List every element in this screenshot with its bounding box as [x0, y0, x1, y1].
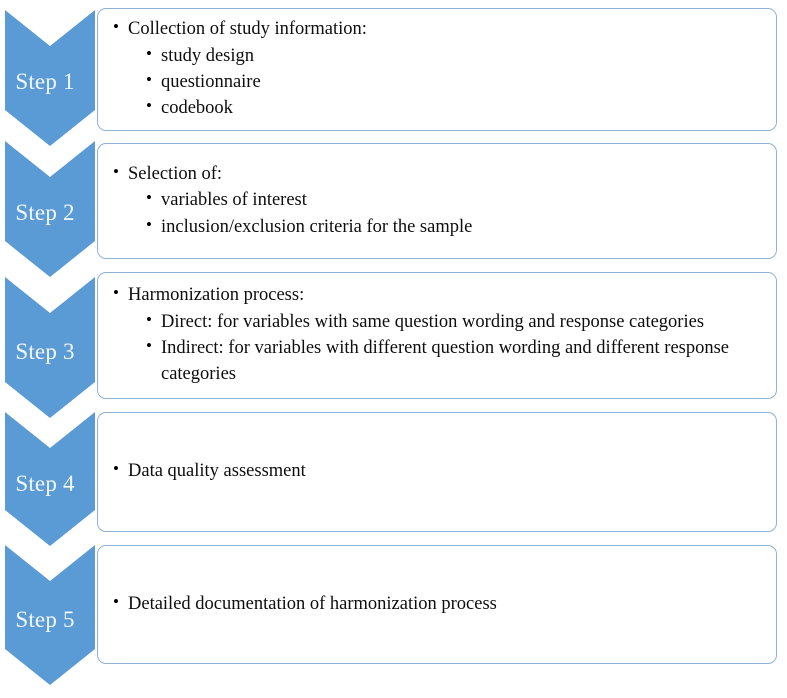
step-arrow-5 — [5, 545, 95, 685]
step-content-box-4: Data quality assessment — [97, 412, 777, 532]
bullet-list: Collection of study information:study de… — [112, 16, 766, 122]
bullet-list: Data quality assessment — [112, 458, 766, 485]
bullet-text: Data quality assessment — [128, 458, 766, 484]
sub-bullet-item: variables of interest — [146, 187, 766, 213]
bullet-list: Detailed documentation of harmonization … — [112, 591, 766, 618]
sub-bullet-item: Direct: for variables with same question… — [146, 309, 766, 335]
step-arrow-2 — [5, 141, 95, 277]
process-flow-diagram: Step 1Collection of study information:st… — [0, 0, 787, 698]
bullet-text: Detailed documentation of harmonization … — [128, 591, 766, 617]
step-arrow-1 — [5, 10, 95, 146]
sub-bullet-item: questionnaire — [146, 69, 766, 95]
bullet-list: Selection of:variables of interestinclus… — [112, 161, 766, 241]
bullet-item: Selection of:variables of interestinclus… — [112, 161, 766, 240]
sub-bullet-item: Indirect: for variables with different q… — [146, 335, 766, 388]
step-arrow-4 — [5, 412, 95, 546]
chevron-icon — [5, 545, 95, 685]
bullet-list: Harmonization process:Direct: for variab… — [112, 282, 766, 388]
chevron-icon — [5, 412, 95, 546]
sub-bullet-list: Direct: for variables with same question… — [128, 309, 766, 388]
step-content-box-1: Collection of study information:study de… — [97, 8, 777, 131]
step-content-box-3: Harmonization process:Direct: for variab… — [97, 272, 777, 399]
bullet-item: Detailed documentation of harmonization … — [112, 591, 766, 617]
sub-bullet-item: inclusion/exclusion criteria for the sam… — [146, 214, 766, 240]
step-content-box-2: Selection of:variables of interestinclus… — [97, 143, 777, 259]
sub-bullet-list: variables of interestinclusion/exclusion… — [128, 187, 766, 240]
chevron-icon — [5, 141, 95, 277]
sub-bullet-list: study designquestionnairecodebook — [128, 43, 766, 122]
bullet-text: Harmonization process: — [128, 282, 766, 308]
chevron-icon — [5, 277, 95, 418]
sub-bullet-item: codebook — [146, 95, 766, 121]
chevron-icon — [5, 10, 95, 146]
bullet-text: Selection of: — [128, 161, 766, 187]
bullet-text: Collection of study information: — [128, 16, 766, 42]
sub-bullet-item: study design — [146, 43, 766, 69]
bullet-item: Harmonization process:Direct: for variab… — [112, 282, 766, 387]
bullet-item: Collection of study information:study de… — [112, 16, 766, 121]
step-content-box-5: Detailed documentation of harmonization … — [97, 545, 777, 664]
bullet-item: Data quality assessment — [112, 458, 766, 484]
step-arrow-3 — [5, 277, 95, 418]
